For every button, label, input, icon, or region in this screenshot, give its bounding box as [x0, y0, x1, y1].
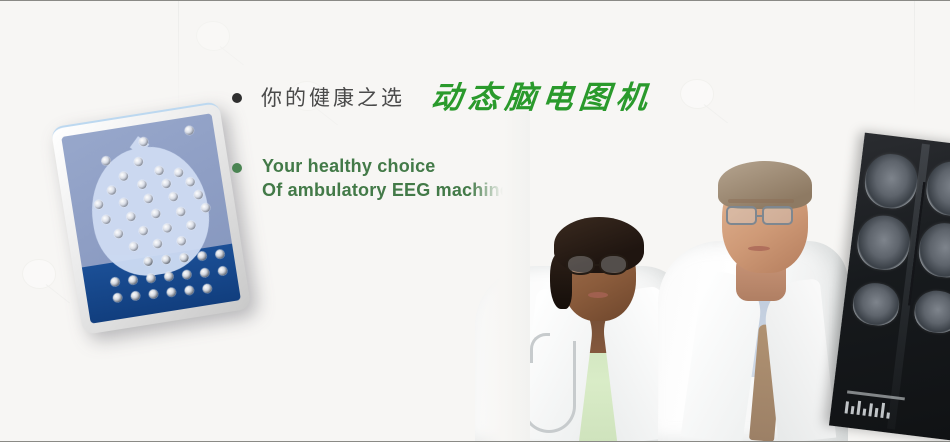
device-faceplate [61, 113, 241, 323]
xray-marker-bars [845, 398, 891, 418]
female-doctor-lips [588, 292, 608, 298]
stethoscope-tube [530, 333, 550, 363]
promo-banner: 你的健康之选 动态脑电图机 Your healthy choice Of amb… [0, 0, 950, 442]
male-doctor-brow [728, 199, 794, 203]
brain-slice [862, 151, 920, 211]
eeg-device-image [51, 101, 252, 335]
female-doctor-glasses-right-lens [599, 254, 628, 275]
device-case [51, 101, 252, 335]
doctors-photo [470, 111, 950, 441]
bullet-icon-secondary [232, 163, 242, 173]
brain-slice [912, 288, 950, 335]
brain-xray-film [829, 133, 950, 441]
brain-slice [916, 220, 950, 280]
male-doctor-glasses-bridge [757, 215, 763, 217]
watermark-magnifier-icon-4 [196, 21, 230, 51]
female-doctor-glasses-left-lens [566, 254, 595, 275]
xray-slice-grid [848, 151, 950, 336]
background-vertical-line-right [914, 1, 915, 121]
watermark-magnifier-icon-2 [680, 79, 714, 109]
photo-left-fade [470, 111, 530, 441]
chinese-subtitle: 你的健康之选 [261, 79, 405, 117]
brain-slice [851, 281, 902, 328]
male-doctor-glasses-right-lens [762, 206, 793, 225]
background-vertical-line-left [178, 1, 179, 121]
brain-slice [855, 213, 913, 273]
watermark-magnifier-icon-1 [22, 259, 56, 289]
bullet-icon-primary [232, 93, 242, 103]
female-doctor-glasses-bridge [594, 264, 601, 267]
male-doctor-lips [748, 246, 770, 251]
brain-slice [924, 159, 950, 219]
male-doctor-glasses-left-lens [726, 206, 757, 225]
